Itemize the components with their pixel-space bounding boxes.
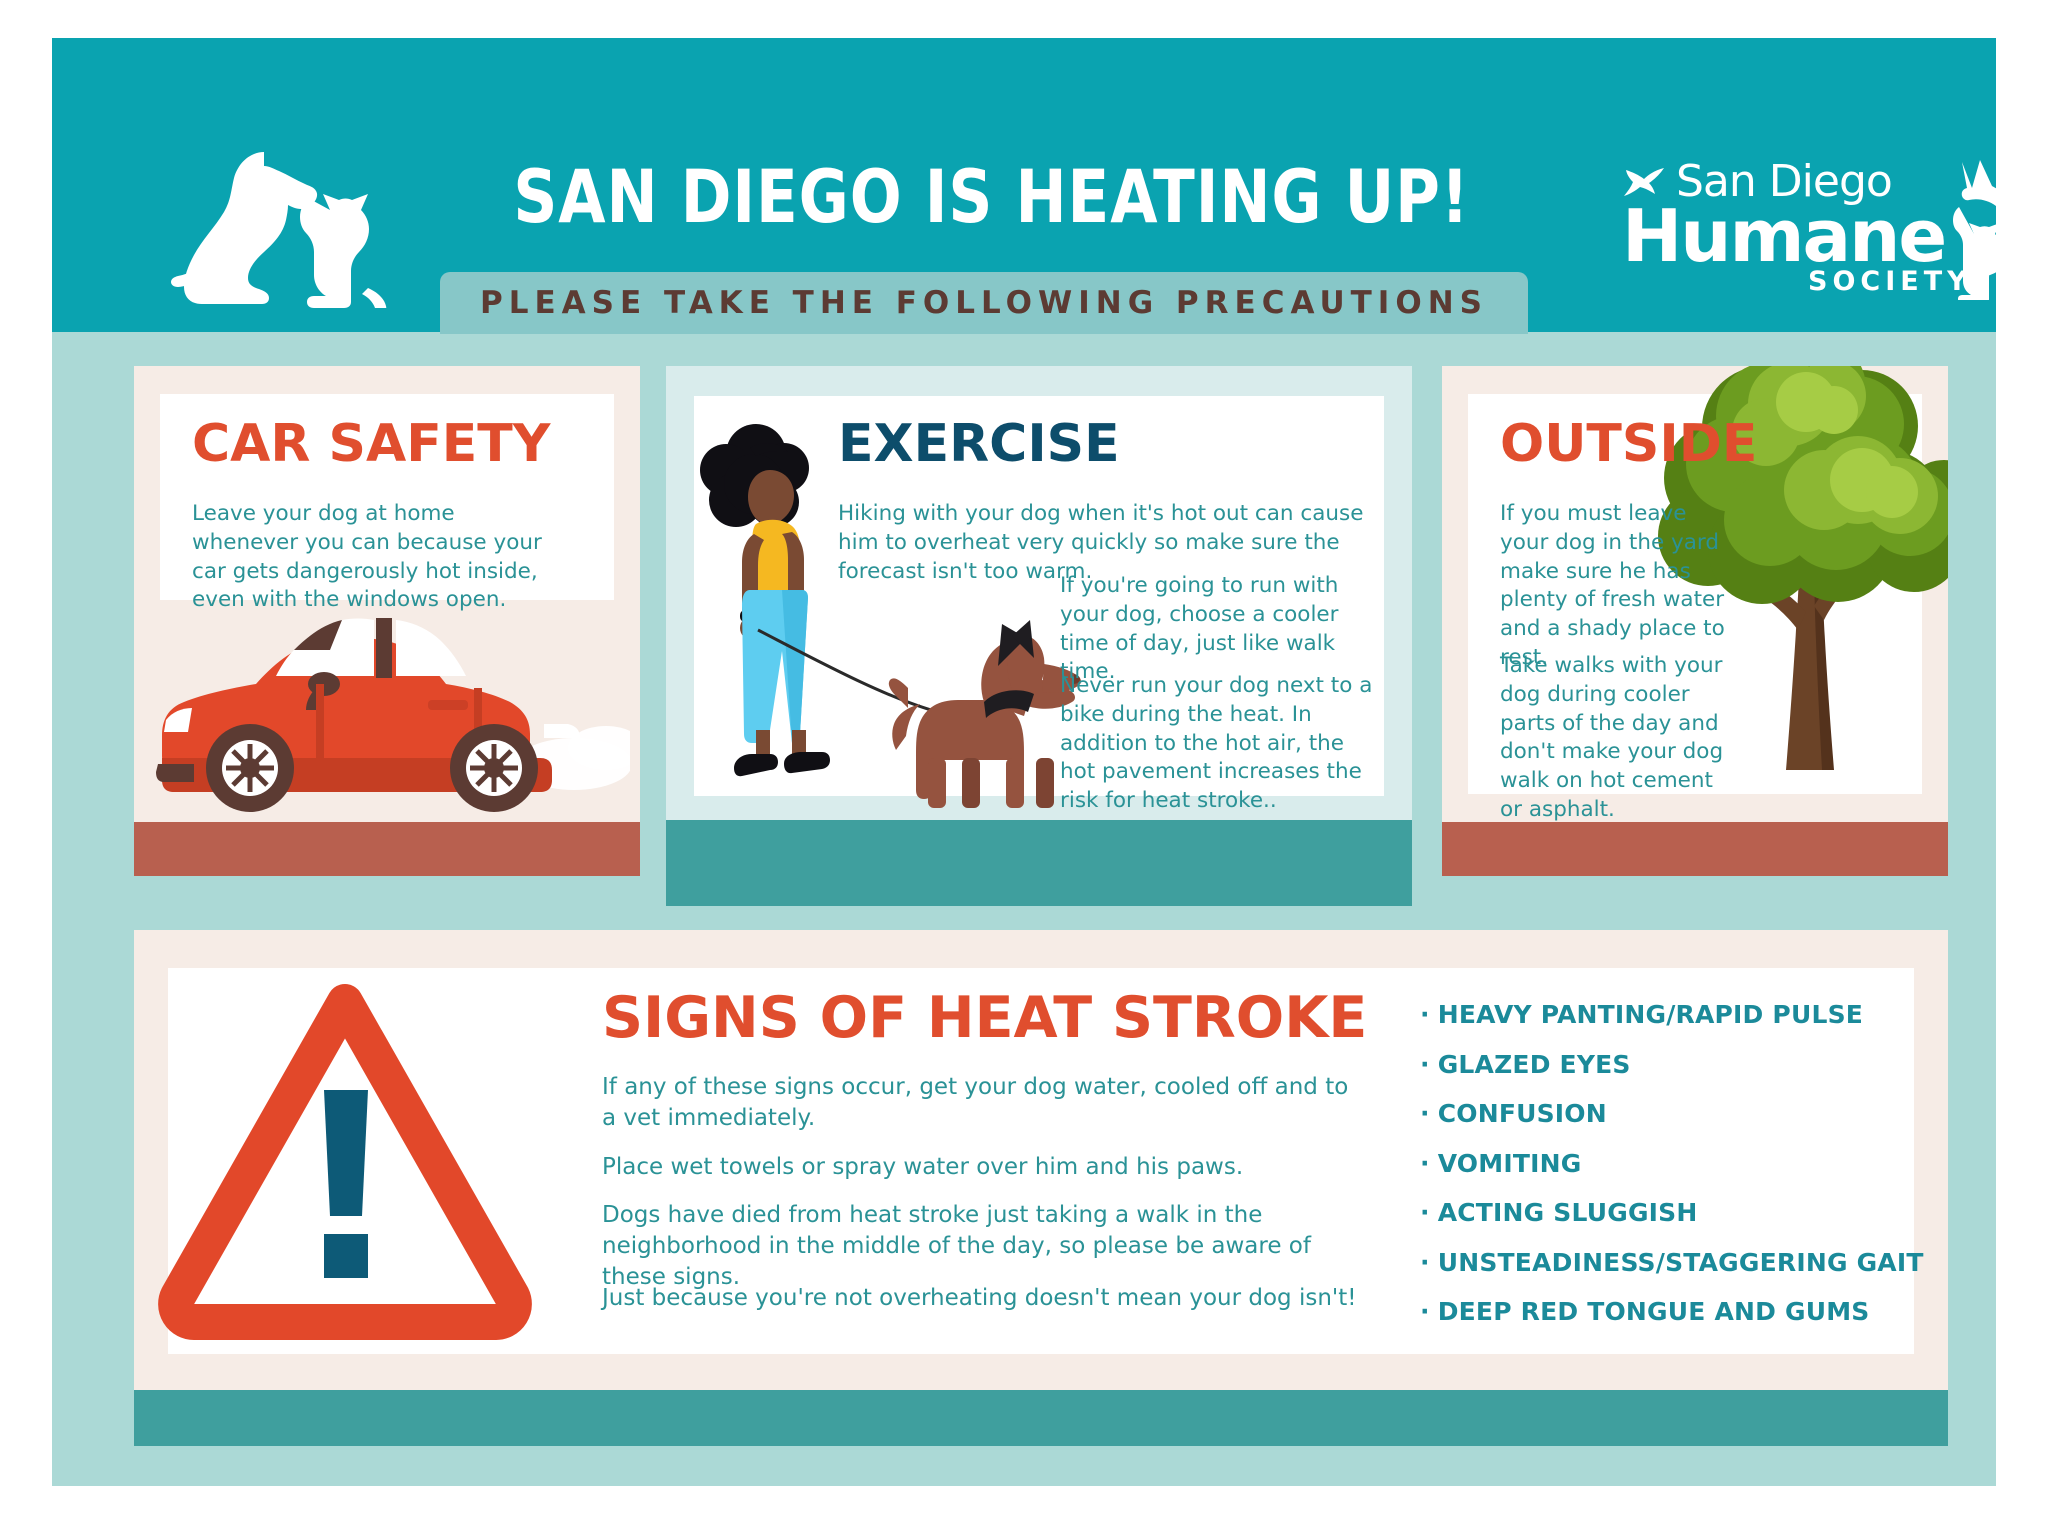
symptom-item: ·GLAZED EYES <box>1420 1050 1940 1079</box>
bullet-icon: · <box>1420 1149 1430 1178</box>
symptom-item: ·VOMITING <box>1420 1149 1940 1178</box>
signs-bottom-bar <box>134 1390 1948 1446</box>
symptom-label: GLAZED EYES <box>1438 1050 1631 1079</box>
infographic-poster: SAN DIEGO IS HEATING UP! PLEASE TAKE THE… <box>0 0 2048 1527</box>
bullet-icon: · <box>1420 1297 1430 1326</box>
bullet-icon: · <box>1420 1000 1430 1029</box>
symptom-label: UNSTEADINESS/STAGGERING GAIT <box>1438 1248 1924 1277</box>
card-exercise-body-3: Never run your dog next to a bike during… <box>1060 672 1380 816</box>
symptom-item: ·CONFUSION <box>1420 1099 1940 1128</box>
red-car-illustration <box>144 588 630 818</box>
car-ground-strip <box>134 822 640 876</box>
bullet-icon: · <box>1420 1050 1430 1079</box>
symptom-item: ·DEEP RED TONGUE AND GUMS <box>1420 1297 1940 1326</box>
warning-triangle-icon <box>156 970 534 1340</box>
signs-title: SIGNS OF HEAT STROKE <box>602 990 1367 1047</box>
signs-paragraph-4: Just because you're not overheating does… <box>602 1283 1362 1314</box>
page-title: SAN DIEGO IS HEATING UP! <box>464 161 1520 234</box>
symptom-label: CONFUSION <box>1438 1099 1607 1128</box>
header-banner: SAN DIEGO IS HEATING UP! PLEASE TAKE THE… <box>52 38 1996 332</box>
card-outside-body-1: If you must leave your dog in the yard m… <box>1500 500 1730 673</box>
bullet-icon: · <box>1420 1248 1430 1277</box>
symptom-item: ·UNSTEADINESS/STAGGERING GAIT <box>1420 1248 1940 1277</box>
symptom-label: ACTING SLUGGISH <box>1438 1198 1698 1227</box>
dog-and-cat-silhouette-icon <box>152 138 392 308</box>
symptom-list: ·HEAVY PANTING/RAPID PULSE·GLAZED EYES·C… <box>1420 1000 1940 1347</box>
card-outside-body-2: Take walks with your dog during cooler p… <box>1500 652 1735 825</box>
san-diego-humane-society-logo: San Diego Humane SOCIETY <box>1622 150 2022 300</box>
card-exercise-body-2: If you're going to run with your dog, ch… <box>1060 572 1370 687</box>
card-outside-title: OUTSIDE <box>1500 418 1757 470</box>
subtitle-text: PLEASE TAKE THE FOLLOWING PRECAUTIONS <box>440 272 1528 334</box>
card-car-safety-body: Leave your dog at home whenever you can … <box>192 500 542 615</box>
card-exercise-title: EXERCISE <box>838 418 1120 470</box>
symptom-label: VOMITING <box>1438 1149 1582 1178</box>
dog-cat-logo-mark-icon <box>1922 150 2032 300</box>
bullet-icon: · <box>1420 1099 1430 1128</box>
symptom-item: ·ACTING SLUGGISH <box>1420 1198 1940 1227</box>
symptom-label: DEEP RED TONGUE AND GUMS <box>1438 1297 1870 1326</box>
bullet-icon: · <box>1420 1198 1430 1227</box>
signs-paragraph-3: Dogs have died from heat stroke just tak… <box>602 1200 1362 1292</box>
symptom-label: HEAVY PANTING/RAPID PULSE <box>1438 1000 1863 1029</box>
signs-paragraph-2: Place wet towels or spray water over him… <box>602 1152 1362 1183</box>
card-car-safety-title: CAR SAFETY <box>192 418 550 470</box>
signs-paragraph-1: If any of these signs occur, get your do… <box>602 1072 1362 1134</box>
subtitle-banner: PLEASE TAKE THE FOLLOWING PRECAUTIONS <box>440 272 1528 334</box>
exercise-ground-strip <box>666 820 1412 906</box>
symptom-item: ·HEAVY PANTING/RAPID PULSE <box>1420 1000 1940 1029</box>
outside-ground-strip <box>1442 822 1948 876</box>
